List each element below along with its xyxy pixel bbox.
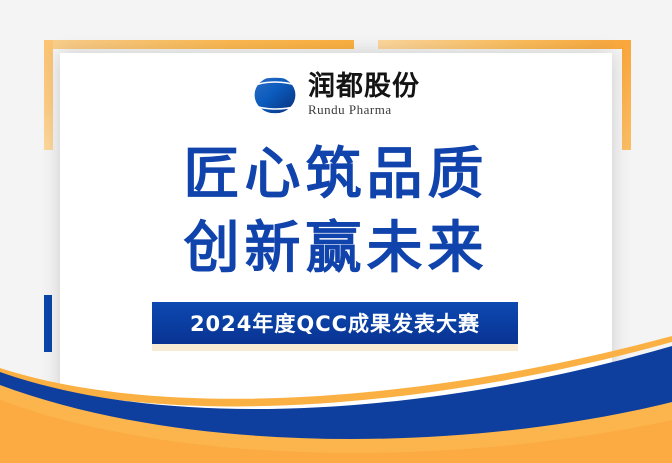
corner-bracket-top-left-vertical	[44, 40, 53, 150]
headline-line-1: 匠心筑品质	[60, 138, 612, 212]
bottom-wave-decoration	[0, 328, 672, 463]
brand-name-en: Rundu Pharma	[308, 103, 420, 116]
corner-bracket-top-right-horizontal	[378, 40, 631, 49]
corner-bracket-top-right-vertical	[622, 40, 631, 150]
corner-bracket-top-left-horizontal	[44, 40, 354, 49]
brand-name-cn: 润都股份	[308, 73, 420, 100]
headline-block: 匠心筑品质 创新赢未来	[60, 138, 612, 286]
poster-canvas: 润都股份 Rundu Pharma 匠心筑品质 创新赢未来 2024年度QCC成…	[0, 0, 672, 463]
rundu-ellipse-logo-icon	[252, 74, 298, 116]
brand-logo-lockup: 润都股份 Rundu Pharma	[60, 73, 612, 116]
headline-line-2: 创新赢未来	[60, 212, 612, 286]
brand-name-block: 润都股份 Rundu Pharma	[308, 73, 420, 116]
